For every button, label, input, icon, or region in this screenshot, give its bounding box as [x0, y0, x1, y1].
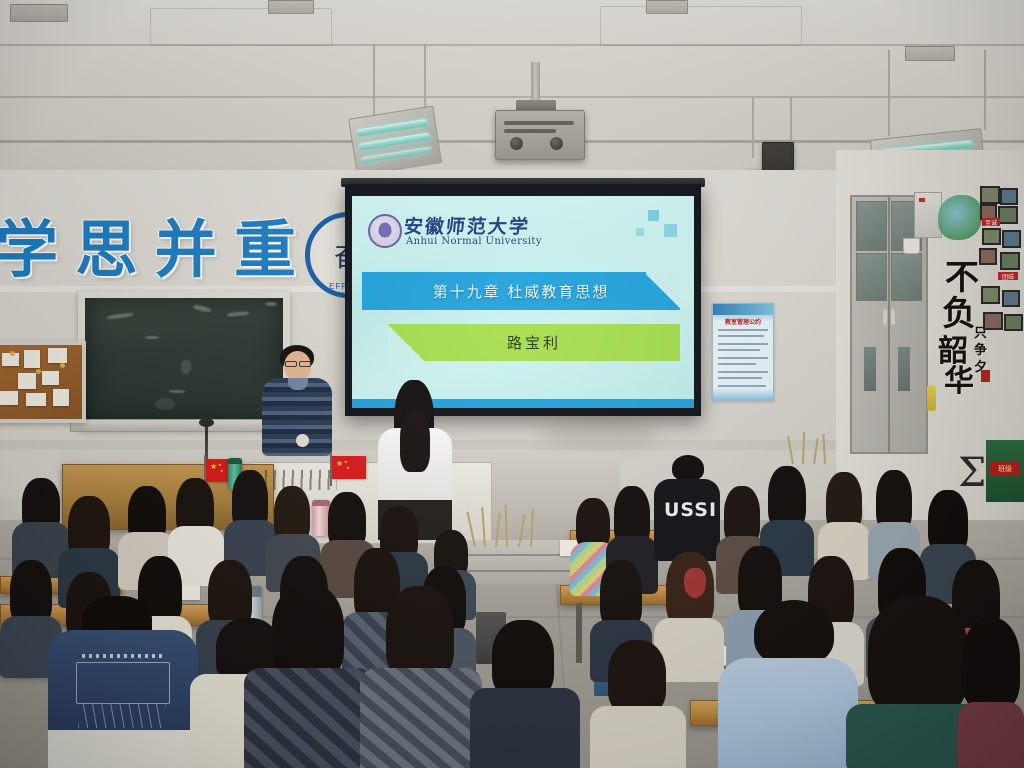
motto-char-3: 并 [155, 219, 217, 281]
decorative-grass-left [468, 505, 546, 547]
photo-collage-board: 至诚 团结 [978, 186, 1024, 386]
door-handle[interactable] [883, 309, 887, 325]
chalk-tray [70, 419, 286, 432]
hoodie-text: USSI [664, 499, 717, 521]
wall-stain [540, 420, 660, 450]
collar [288, 378, 308, 390]
decorative-grass-right [788, 430, 834, 464]
blackboard [78, 291, 290, 430]
collage-label: 团结 [998, 272, 1018, 280]
light-hanger-rod [373, 44, 375, 116]
ceiling-vent [905, 46, 955, 61]
speaker-hanger-rod [752, 98, 754, 158]
glasses-icon [299, 361, 311, 367]
collage-label: 至诚 [982, 218, 1000, 226]
student [360, 586, 482, 768]
lecturer-cup [296, 434, 309, 447]
student [818, 472, 870, 566]
ink-painting-icon [938, 195, 982, 240]
student-hoodie: USSI [654, 455, 720, 560]
calligraphy-char: 华 [944, 356, 974, 400]
slide-chapter-title: 第十九章 杜威教育思想 [362, 272, 680, 310]
student-blue-shirt [718, 600, 858, 768]
ceiling-vent [10, 4, 68, 22]
light-hanger-rod [984, 50, 986, 130]
slide-presenter-band: 路宝利 [388, 324, 680, 361]
student [958, 618, 1024, 768]
student-navy-jacket [48, 596, 198, 768]
classroom-photo: 学 思 并 重 奋 EFFORT [0, 0, 1024, 768]
wall-motto: 学 思 并 重 [0, 214, 296, 286]
ceiling-vent [268, 0, 314, 14]
ceiling-projector [495, 110, 585, 160]
motto-char-2: 思 [75, 219, 137, 281]
light-hanger-rod [888, 50, 890, 136]
motto-char-4: 重 [234, 219, 296, 281]
class-banner: Σ 班级 [986, 440, 1024, 502]
motto-char-1: 学 [0, 219, 58, 281]
student [590, 640, 686, 768]
fluorescent-light-left [348, 106, 440, 174]
slide-title-band: 第十九章 杜威教育思想 [362, 272, 680, 310]
banner-label: 班级 [990, 462, 1020, 476]
student [470, 620, 580, 768]
ceiling-seam [0, 96, 1024, 98]
poster-heading: 教室管理公约 [713, 317, 773, 326]
ceiling-vent [646, 0, 688, 14]
slide-university-en: Anhui Normal University [406, 236, 542, 247]
student [244, 584, 374, 768]
classroom-rules-poster: 教室管理公约 [712, 303, 774, 401]
ceiling-panel [600, 6, 802, 46]
notice-corkboard [0, 341, 86, 423]
university-crest-icon [368, 214, 402, 248]
chinese-flag-right: ★ ★ ★ [332, 456, 366, 479]
presentation-slide: 安徽师范大学 Anhui Normal University 第十九章 杜威教育… [352, 196, 694, 408]
slide-presenter-name: 路宝利 [388, 324, 680, 361]
wall-cup [903, 238, 920, 254]
slide-university-cn: 安徽师范大学 [403, 212, 532, 239]
glasses-icon [285, 361, 297, 367]
wall-hanging-bottle [927, 385, 936, 411]
door-handle[interactable] [891, 309, 895, 325]
